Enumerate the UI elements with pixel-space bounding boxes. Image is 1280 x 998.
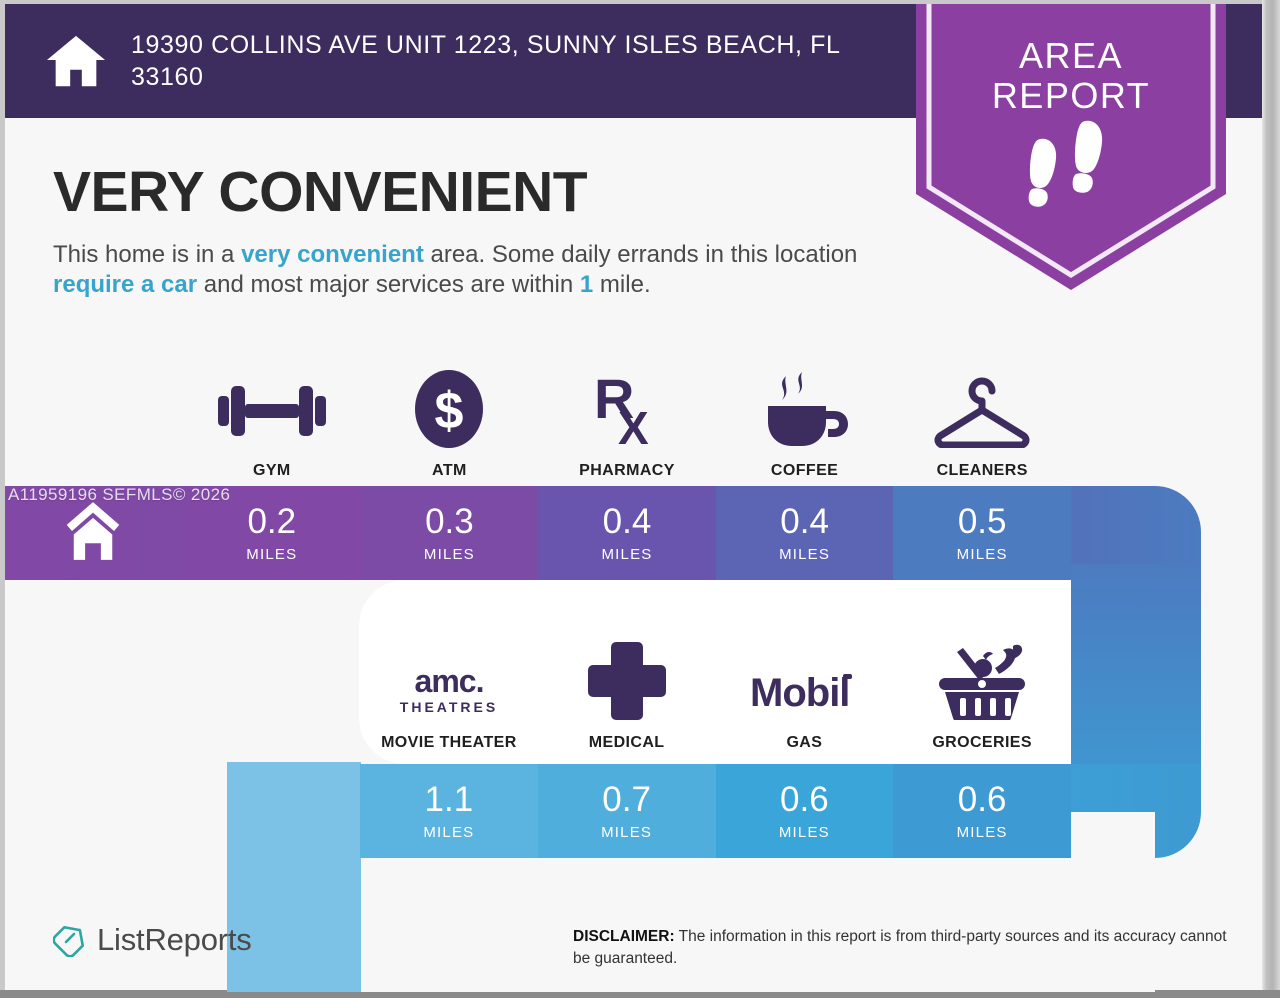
amenity-groceries[interactable]: GROCERIES: [893, 624, 1071, 752]
distance-unit: MILES: [779, 546, 830, 563]
dollar-coin-icon: $: [415, 370, 483, 448]
area-report-banner: AREA REPORT: [916, 4, 1226, 290]
subject-home-icon: [65, 500, 121, 562]
distance-value: 0.2: [247, 504, 296, 539]
distance-value: 0.3: [425, 504, 474, 539]
distance-unit: MILES: [957, 824, 1008, 841]
distance-unit: MILES: [246, 546, 297, 563]
amenity-label: GYM: [253, 462, 291, 480]
screenshot-root: 19390 COLLINS AVE UNIT 1223, SUNNY ISLES…: [0, 0, 1280, 998]
distance-unit: MILES: [601, 546, 652, 563]
rx-icon: R X: [592, 370, 662, 448]
distance-value: 0.5: [958, 504, 1007, 539]
listreports-logo-icon: [53, 923, 97, 957]
coffee-cup-icon: [762, 370, 848, 448]
amenity-atm[interactable]: $ ATM: [361, 352, 539, 480]
listreports-logo-text: ListReports: [97, 922, 252, 958]
amenity-cleaners[interactable]: CLEANERS: [893, 352, 1071, 480]
amenity-label: COFFEE: [771, 462, 838, 480]
amenity-coffee[interactable]: COFFEE: [716, 352, 894, 480]
distance-cell-cleaners[interactable]: 0.5 MILES: [893, 486, 1071, 580]
svg-text:X: X: [618, 402, 649, 448]
listreports-logo[interactable]: ListReports: [53, 922, 252, 958]
amenity-label: GAS: [786, 734, 822, 752]
svg-text:THEATRES: THEATRES: [400, 699, 498, 715]
distance-cell-atm[interactable]: 0.3 MILES: [361, 486, 539, 580]
amenity-label: GROCERIES: [932, 734, 1032, 752]
amenity-movie-theater[interactable]: amc. THEATRES MOVIE THEATER: [360, 624, 538, 752]
svg-text:Mobil: Mobil: [750, 671, 849, 715]
distance-cell-medical[interactable]: 0.7 MILES: [538, 764, 716, 858]
distance-cell-gas[interactable]: 0.6 MILES: [716, 764, 894, 858]
disclaimer-label: DISCLAIMER:: [573, 928, 675, 945]
distance-value: 1.1: [425, 782, 474, 817]
distance-unit: MILES: [957, 546, 1008, 563]
amenity-label: PHARMACY: [579, 462, 675, 480]
distance-row-bottom: 1.1 MILES 0.7 MILES 0.6 MILES 0.6 MILES: [360, 764, 1071, 858]
amenity-gym[interactable]: GYM: [183, 352, 361, 480]
report-document: 19390 COLLINS AVE UNIT 1223, SUNNY ISLES…: [5, 4, 1262, 992]
distance-unit: MILES: [601, 824, 652, 841]
mobil-logo: Mobil: [748, 642, 860, 720]
amenity-gas[interactable]: Mobil GAS: [716, 624, 894, 752]
dumbbell-icon: [218, 370, 326, 448]
svg-text:$: $: [435, 382, 464, 440]
disclaimer: DISCLAIMER: The information in this repo…: [573, 926, 1241, 970]
distance-value: 0.4: [603, 504, 652, 539]
distance-value: 0.7: [602, 782, 651, 817]
amenity-label: ATM: [432, 462, 467, 480]
svg-text:amc.: amc.: [414, 663, 483, 699]
distance-cell-groceries[interactable]: 0.6 MILES: [893, 764, 1071, 858]
distance-unit: MILES: [424, 546, 475, 563]
hanger-icon: [930, 370, 1034, 448]
amenity-icon-row-top: GYM $ ATM R X PHARMACY: [183, 352, 1071, 480]
amenity-pharmacy[interactable]: R X PHARMACY: [538, 352, 716, 480]
amenity-label: MOVIE THEATER: [381, 734, 517, 752]
distance-value: 0.4: [780, 504, 829, 539]
distance-cell-movie-theater[interactable]: 1.1 MILES: [360, 764, 538, 858]
amenity-label: MEDICAL: [589, 734, 665, 752]
distance-value: 0.6: [780, 782, 829, 817]
distance-unit: MILES: [779, 824, 830, 841]
distance-cell-coffee[interactable]: 0.4 MILES: [716, 486, 894, 580]
medical-cross-icon: [588, 642, 666, 720]
amenity-icon-row-bottom: amc. THEATRES MOVIE THEATER MEDICAL M: [360, 624, 1071, 752]
right-scroll-gutter[interactable]: [1262, 0, 1280, 998]
distance-value: 0.6: [958, 782, 1007, 817]
amenity-medical[interactable]: MEDICAL: [538, 624, 716, 752]
distance-unit: MILES: [423, 824, 474, 841]
distance-row-top: 0.2 MILES 0.3 MILES 0.4 MILES 0.4 MILES …: [183, 486, 1071, 580]
distance-cell-pharmacy[interactable]: 0.4 MILES: [538, 486, 716, 580]
grocery-basket-icon: [933, 642, 1031, 720]
amenity-label: CLEANERS: [937, 462, 1028, 480]
amc-theatres-logo: amc. THEATRES: [393, 642, 505, 720]
mls-watermark: A11959196 SEFMLS© 2026: [8, 485, 230, 505]
